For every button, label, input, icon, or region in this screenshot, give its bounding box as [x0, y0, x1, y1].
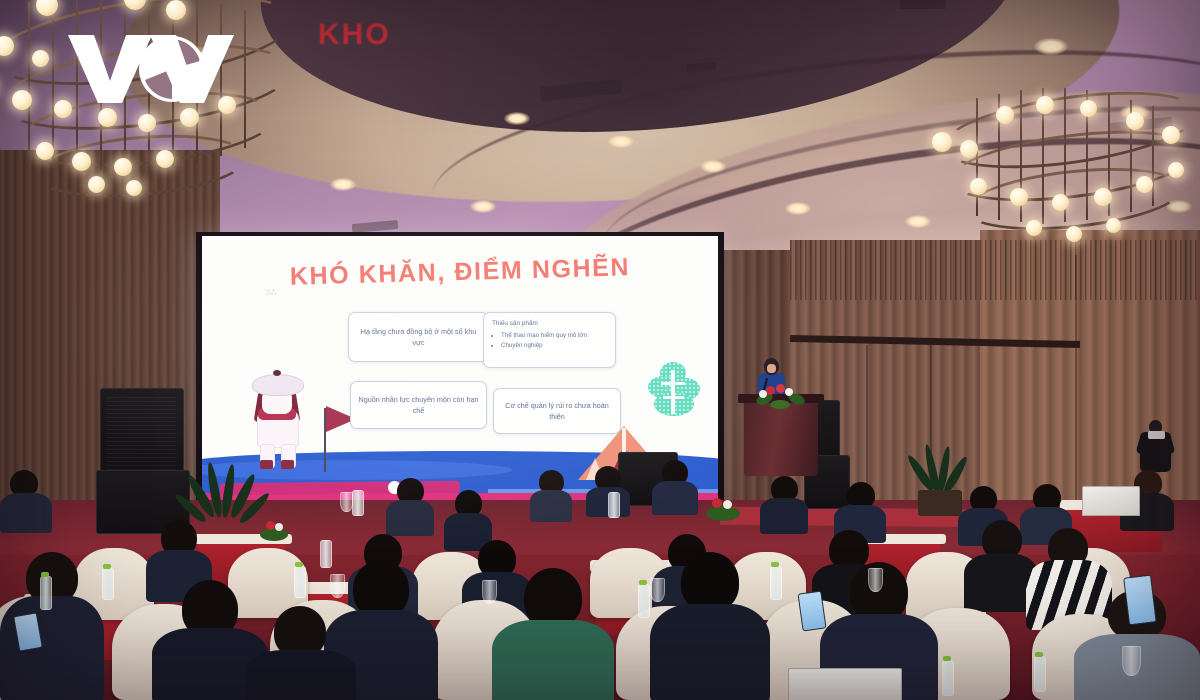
wine-glass	[650, 578, 665, 602]
bottle-cap	[639, 580, 647, 585]
downlight-1	[504, 112, 530, 125]
attendee-front	[650, 552, 770, 700]
photographer	[1140, 420, 1170, 472]
attendee-front	[246, 606, 356, 700]
ceiling-vent-5	[900, 0, 946, 9]
bottle-cap	[103, 564, 111, 569]
box-products[interactable]: Thiếu sản phẩm Thể thao mạo hiểm quy mô …	[483, 312, 616, 368]
downlight-3	[700, 160, 726, 173]
box-risk-management[interactable]: Cơ chế quản lý rủi ro chưa hoàn thiện	[493, 388, 621, 434]
vov-logo	[68, 33, 234, 105]
water-bottle	[608, 492, 620, 518]
wine-glass	[330, 574, 345, 598]
box-products-heading: Thiếu sản phẩm	[484, 313, 615, 331]
attendee	[652, 460, 698, 512]
smartphone[interactable]	[797, 591, 826, 632]
conference-hall-photo: KHO KHÓ KHĂN, ĐIỂM NGHẼN ∴∴	[0, 0, 1200, 700]
green-tree-icon	[648, 362, 700, 418]
wine-glass	[1122, 646, 1141, 676]
attendee	[386, 478, 434, 532]
bottle-cap	[771, 562, 779, 567]
bottle-cap	[1035, 652, 1043, 657]
podium	[744, 398, 818, 476]
chandelier-right	[940, 82, 1200, 262]
downlight-9	[785, 202, 811, 215]
water-bottle	[352, 490, 364, 516]
water-bottle	[770, 566, 782, 600]
water-bottle	[638, 584, 650, 618]
hiker-character-icon	[246, 374, 308, 470]
attendee-front	[492, 568, 614, 700]
attendee	[0, 470, 52, 530]
bottle-cap	[943, 656, 951, 661]
water-bottle	[294, 566, 306, 598]
handheld-camera-icon	[1148, 431, 1165, 439]
water-bottle	[102, 568, 114, 600]
box-human-resources[interactable]: Nguồn nhân lực chuyên môn còn hạn chế	[350, 381, 487, 429]
bird-icon: ∴∴	[265, 287, 276, 297]
water-bottle	[1034, 656, 1046, 692]
bottle-cap	[295, 562, 303, 567]
downlight-6	[1034, 38, 1068, 55]
downlight-2	[608, 135, 634, 148]
attendee	[760, 476, 808, 530]
laptop[interactable]	[788, 668, 902, 700]
podium-flowers	[752, 382, 810, 408]
wine-glass	[340, 492, 353, 512]
water-bottle	[942, 660, 954, 696]
box-human-resources-text: Nguồn nhân lực chuyên môn còn hạn chế	[351, 394, 486, 416]
box-infrastructure-text: Hạ tầng chưa đồng bộ ở một số khu vực	[349, 326, 488, 348]
wine-glass	[482, 580, 497, 604]
box-risk-management-text: Cơ chế quản lý rủi ro chưa hoàn thiện	[494, 400, 620, 422]
box-products-bullets: Thể thao mạo hiểm quy mô lớn Chuyên nghi…	[484, 331, 615, 351]
wine-glass	[868, 568, 883, 592]
attendee	[444, 490, 492, 546]
water-bottle	[40, 576, 52, 610]
bullet-item: Thể thao mạo hiểm quy mô lớn	[501, 331, 615, 341]
slide-title: KHÓ KHĂN, ĐIỂM NGHẼN	[202, 251, 718, 294]
downlight-8	[905, 215, 931, 228]
attendee	[530, 470, 572, 518]
laptop[interactable]	[1082, 486, 1140, 516]
bullet-item: Chuyên nghiệp	[501, 341, 615, 351]
downlight-5	[470, 200, 496, 213]
smartphone[interactable]	[1123, 574, 1157, 625]
bottle-cap	[41, 572, 49, 577]
water-bottle	[320, 540, 332, 568]
box-infrastructure[interactable]: Hạ tầng chưa đồng bộ ở một số khu vực	[348, 312, 489, 362]
